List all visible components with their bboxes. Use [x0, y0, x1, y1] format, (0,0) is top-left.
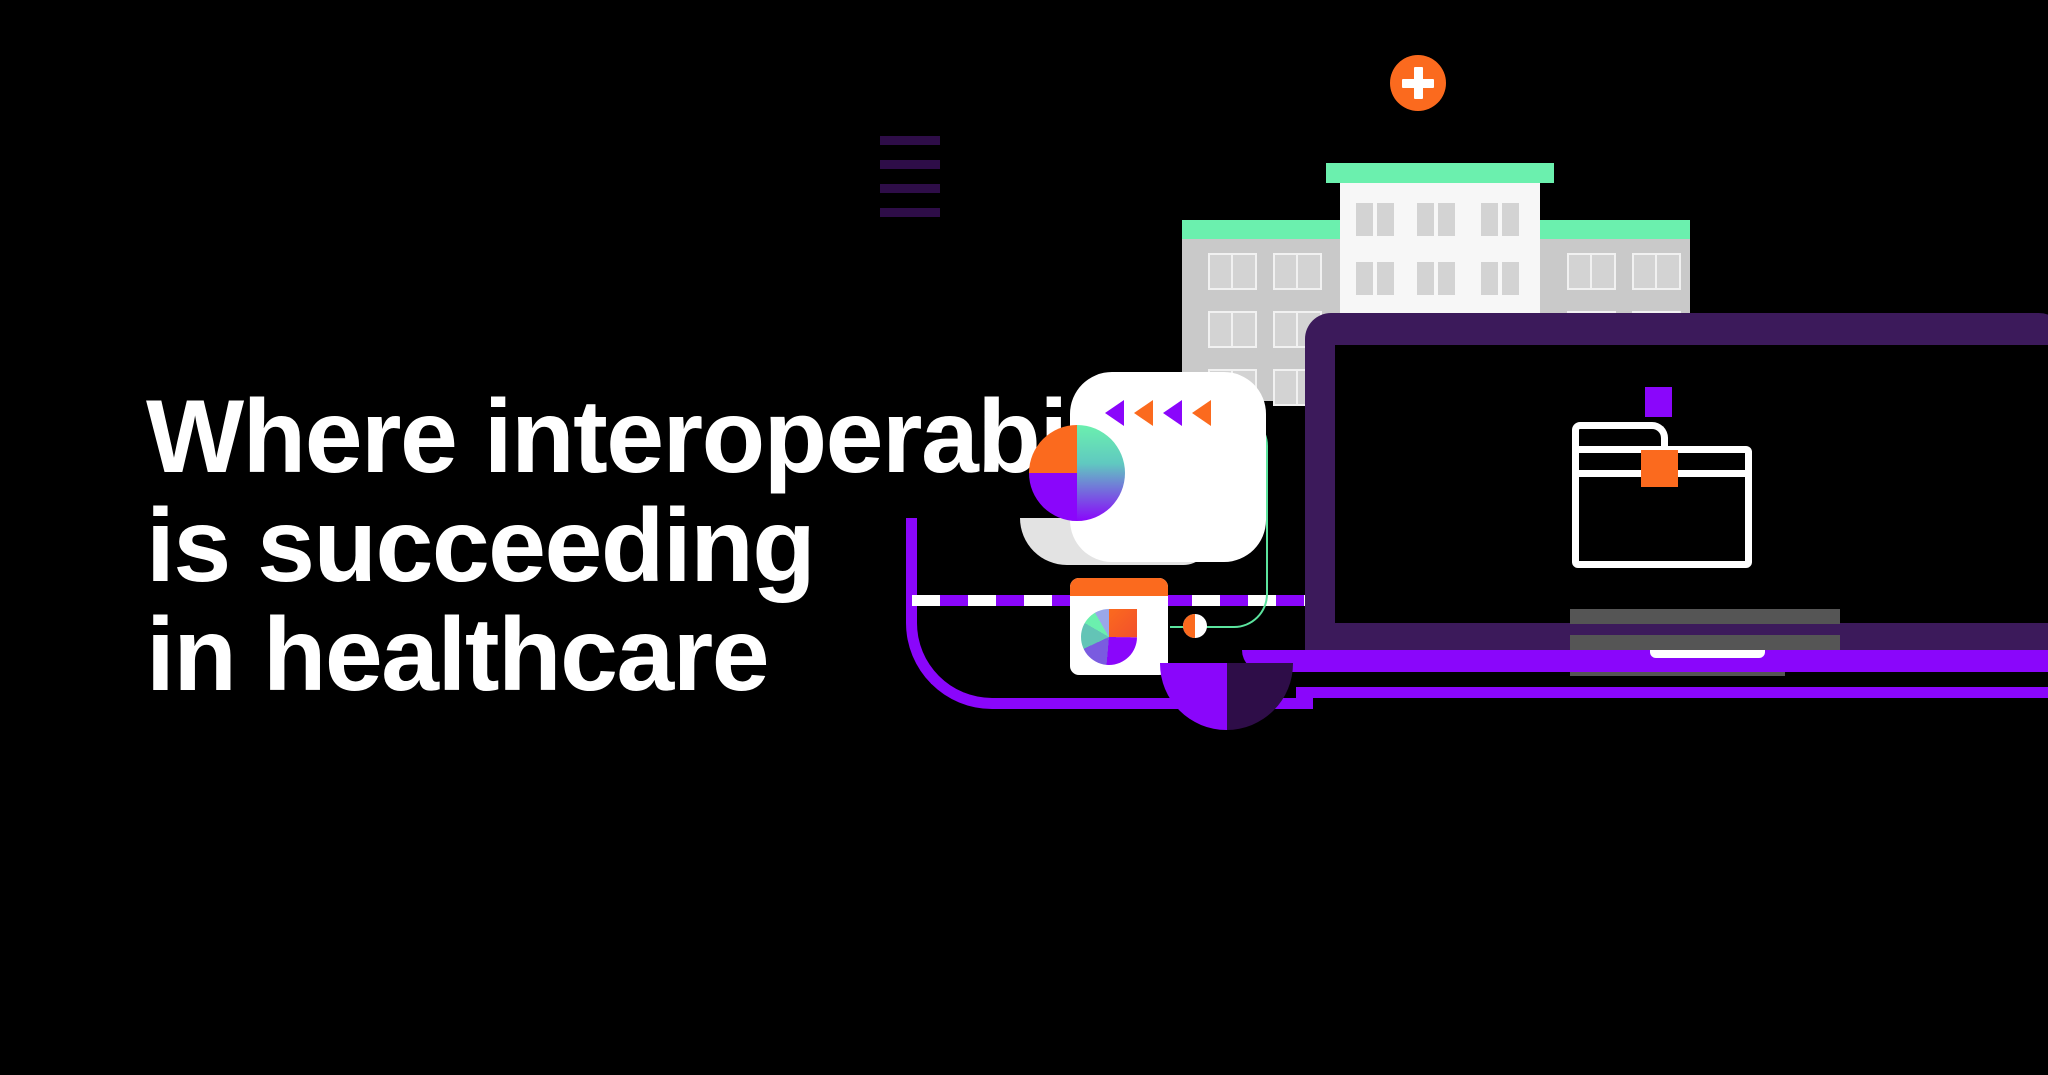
wing-window-pane — [1233, 255, 1255, 288]
laptop-device — [1305, 313, 2048, 673]
tower-window-pane — [1481, 203, 1498, 236]
pie-segment-purple — [1029, 473, 1077, 521]
screen-text-line-2 — [1570, 635, 1840, 650]
half-circle-right — [1227, 663, 1294, 730]
tower-window-pane — [1438, 262, 1455, 295]
dark-purple-line — [880, 184, 940, 193]
purple-square-accent — [1645, 387, 1672, 417]
cross-vertical-bar — [1414, 67, 1423, 99]
mini-report-card — [1070, 578, 1168, 675]
wing-window-pane — [1657, 255, 1679, 288]
wing-window-pane — [1210, 313, 1232, 346]
laptop-screen — [1335, 345, 2048, 623]
wing-window-pane — [1275, 313, 1297, 346]
half-circle-accent — [1160, 663, 1293, 796]
arrow-left-orange-1 — [1134, 400, 1153, 426]
connector-node-dot — [1183, 614, 1207, 638]
mini-card-header-bar — [1070, 578, 1168, 596]
pie-segment-orange — [1029, 425, 1077, 473]
tower-window-pane — [1417, 262, 1434, 295]
folder-icon — [1572, 422, 1752, 568]
orange-square-accent — [1641, 450, 1678, 487]
dark-purple-line — [880, 208, 940, 217]
arrow-left-purple-1 — [1105, 400, 1124, 426]
tower-window-pane — [1502, 203, 1519, 236]
purple-connector-tail — [1296, 687, 2048, 698]
tower-window-pane — [1356, 262, 1373, 295]
wing-window-pane — [1634, 255, 1656, 288]
dark-purple-line — [880, 160, 940, 169]
hero-banner: Where interoperability is succeeding in … — [0, 0, 2048, 1075]
document-pie-chart — [1029, 425, 1125, 521]
healthcare-interoperability-illustration — [1150, 0, 2048, 1075]
tower-window-pane — [1438, 203, 1455, 236]
tower-window-pane — [1377, 203, 1394, 236]
screen-text-line-1 — [1570, 609, 1840, 624]
wing-window-pane — [1210, 255, 1232, 288]
tower-window-pane — [1377, 262, 1394, 295]
hospital-roof-center — [1326, 163, 1554, 183]
tower-window-pane — [1481, 262, 1498, 295]
laptop-base — [1242, 650, 2048, 672]
wing-window-pane — [1592, 255, 1614, 288]
headline-line-1: Where interoperability — [146, 383, 1086, 492]
laptop-base-notch — [1650, 650, 1765, 658]
tower-window-pane — [1417, 203, 1434, 236]
wing-window-pane — [1298, 255, 1320, 288]
wing-window-pane — [1569, 255, 1591, 288]
wing-window-pane — [1275, 255, 1297, 288]
mini-pie-orange-wedge — [1109, 609, 1137, 637]
pie-segment-gradient — [1077, 425, 1125, 521]
wing-window-pane — [1233, 313, 1255, 346]
arrow-left-purple-2 — [1163, 400, 1182, 426]
data-flow-arrows — [1105, 400, 1211, 426]
tower-window-pane — [1356, 203, 1373, 236]
arrow-left-orange-2 — [1192, 400, 1211, 426]
half-circle-disc — [1160, 663, 1293, 730]
medical-cross-icon — [1390, 55, 1446, 111]
dark-purple-line — [880, 136, 940, 145]
half-circle-left — [1160, 663, 1227, 730]
wing-window-pane — [1275, 371, 1297, 404]
node-dot-left-half — [1183, 614, 1195, 638]
tower-window-pane — [1502, 262, 1519, 295]
hospital-roof-left — [1182, 220, 1362, 239]
